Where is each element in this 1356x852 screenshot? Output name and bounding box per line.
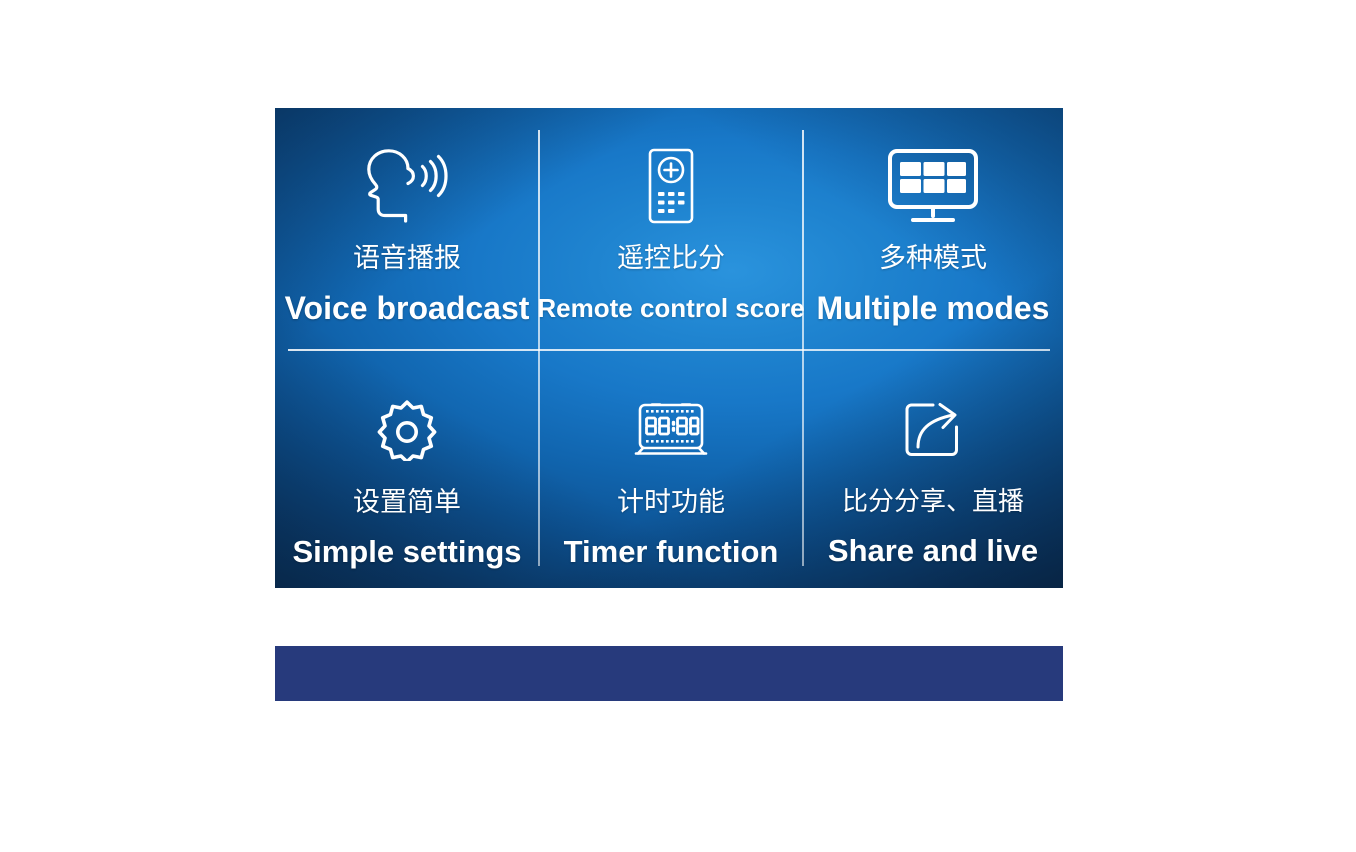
remote-control-icon — [645, 148, 697, 224]
monitor-grid-icon — [887, 148, 979, 224]
feature-label-en: Voice broadcast — [285, 292, 530, 324]
feature-cell-modes[interactable]: 多种模式 Multiple modes — [803, 108, 1063, 350]
feature-label-en: Simple settings — [292, 536, 521, 567]
horizontal-divider — [288, 349, 1050, 351]
feature-label-cn: 设置简单 — [353, 489, 461, 516]
speaking-head-icon — [361, 149, 453, 223]
vertical-divider-left — [538, 130, 540, 566]
bottom-bar — [275, 646, 1063, 701]
feature-label-en: Remote control score — [537, 295, 804, 321]
feature-cell-voice[interactable]: 语音播报 Voice broadcast — [275, 108, 539, 350]
remote-control-icon-wrap — [645, 148, 697, 224]
monitor-grid-icon-wrap — [887, 148, 979, 224]
feature-label-cn: 多种模式 — [879, 245, 987, 272]
feature-label-en: Multiple modes — [817, 292, 1050, 324]
feature-cell-timer[interactable]: 计时功能 Timer function — [539, 350, 803, 588]
gear-icon — [376, 399, 438, 461]
feature-cell-remote[interactable]: 遥控比分 Remote control score — [539, 108, 803, 350]
share-arrow-icon — [902, 400, 964, 460]
feature-label-cn: 遥控比分 — [617, 245, 725, 272]
feature-label-en: Share and live — [828, 535, 1038, 566]
gear-icon-wrap — [376, 392, 438, 468]
feature-panel: 语音播报 Voice broadcast — [275, 108, 1063, 588]
feature-grid: 语音播报 Voice broadcast — [275, 108, 1063, 588]
feature-cell-share[interactable]: 比分分享、直播 Share and live — [803, 350, 1063, 588]
feature-label-cn: 语音播报 — [353, 245, 461, 272]
vertical-divider-right — [802, 130, 804, 566]
feature-label-cn: 计时功能 — [617, 489, 725, 516]
feature-label-en: Timer function — [564, 536, 779, 567]
digital-clock-icon-wrap — [632, 392, 710, 468]
speaking-head-icon-wrap — [361, 148, 453, 224]
digital-clock-icon — [632, 399, 710, 461]
feature-cell-settings[interactable]: 设置简单 Simple settings — [275, 350, 539, 588]
share-arrow-icon-wrap — [902, 392, 964, 468]
feature-label-cn: 比分分享、直播 — [842, 489, 1024, 515]
